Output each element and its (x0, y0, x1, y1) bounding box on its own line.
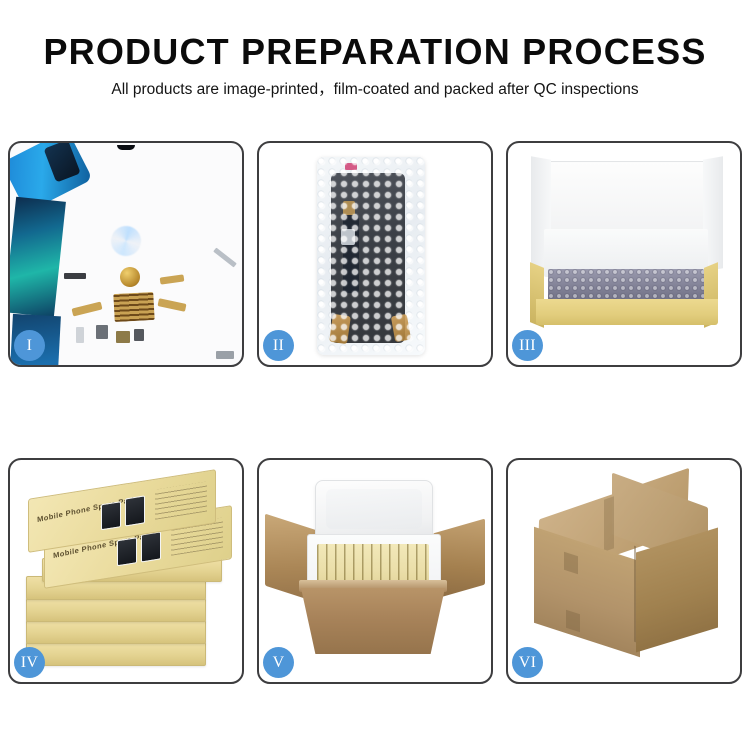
step-panel-5[interactable]: V (257, 458, 493, 684)
foam-cooler-lid (315, 480, 433, 542)
small-component-3 (116, 331, 130, 343)
stacked-box-bottom-3 (26, 598, 206, 622)
step-4-photo: Mobile Phone Spare Parts Mobile Phone Sp… (10, 460, 242, 682)
phone-screen-teal (10, 197, 66, 318)
step-2-photo (259, 143, 491, 365)
step-5-photo (259, 460, 491, 682)
carton-front-panel (301, 588, 445, 654)
lcd-connector (341, 229, 355, 245)
step-number-badge-4: IV (14, 647, 45, 678)
header: PRODUCT PREPARATION PROCESS All products… (0, 0, 750, 100)
box-art-phone-4 (125, 495, 145, 526)
step-number-badge-6: VI (512, 647, 543, 678)
step-panel-1[interactable]: I (8, 141, 244, 367)
flex-cable-part-3 (160, 274, 185, 284)
small-screw-set (216, 351, 234, 359)
small-component-2 (96, 325, 108, 339)
lcd-gold-contact-left (329, 314, 351, 344)
lcd-gold-contact-right (391, 314, 411, 342)
tweezers-tool (213, 248, 237, 268)
step-panel-4[interactable]: Mobile Phone Spare Parts Mobile Phone Sp… (8, 458, 244, 684)
step-number-badge-1: I (14, 330, 45, 361)
small-component-4 (134, 329, 144, 341)
box-spec-text-block-back (155, 482, 207, 520)
retail-box-stack: Mobile Phone Spare Parts Mobile Phone Sp… (26, 486, 230, 664)
flex-cable-part-1 (71, 301, 102, 316)
step-6-photo (508, 460, 740, 682)
stacked-box-bottom-5 (26, 642, 206, 666)
box-art-phone-3 (101, 501, 121, 530)
page-subtitle: All products are image-printed，film-coat… (0, 80, 750, 100)
step-number-badge-3: III (512, 330, 543, 361)
box-art-phone-2 (141, 531, 161, 562)
kraft-box-front-panel (536, 299, 718, 325)
small-component-5 (76, 327, 84, 343)
step-panel-2[interactable]: II (257, 141, 493, 367)
vibration-motor-part (120, 267, 140, 287)
step-1-photo (10, 143, 242, 365)
bubble-wrap-bag (317, 157, 425, 355)
lcd-gold-tab (343, 201, 355, 215)
stacked-box-bottom-4 (26, 620, 206, 644)
chip-array-part (113, 292, 154, 322)
step-panel-6[interactable]: VI (506, 458, 742, 684)
small-component-1 (64, 273, 86, 279)
page-title: PRODUCT PREPARATION PROCESS (0, 30, 750, 74)
grey-bubble-wrap-layer (548, 269, 704, 303)
step-panel-3[interactable]: III (506, 141, 742, 367)
flex-cable-part-2 (157, 298, 186, 312)
box-label-text-back: Mobile Phone Spare Parts (37, 494, 139, 524)
step-3-photo (508, 143, 740, 365)
box-art-phone-1 (117, 537, 137, 566)
pink-qc-label (345, 163, 357, 170)
lcd-flex-cable (343, 215, 359, 293)
step-number-badge-5: V (263, 647, 294, 678)
process-step-grid: I II (8, 141, 742, 684)
carton-vertical-edge (634, 546, 636, 643)
product-preparation-infographic: PRODUCT PREPARATION PROCESS All products… (0, 0, 750, 750)
carton-top-seam (604, 496, 614, 551)
step-number-badge-2: II (263, 330, 294, 361)
